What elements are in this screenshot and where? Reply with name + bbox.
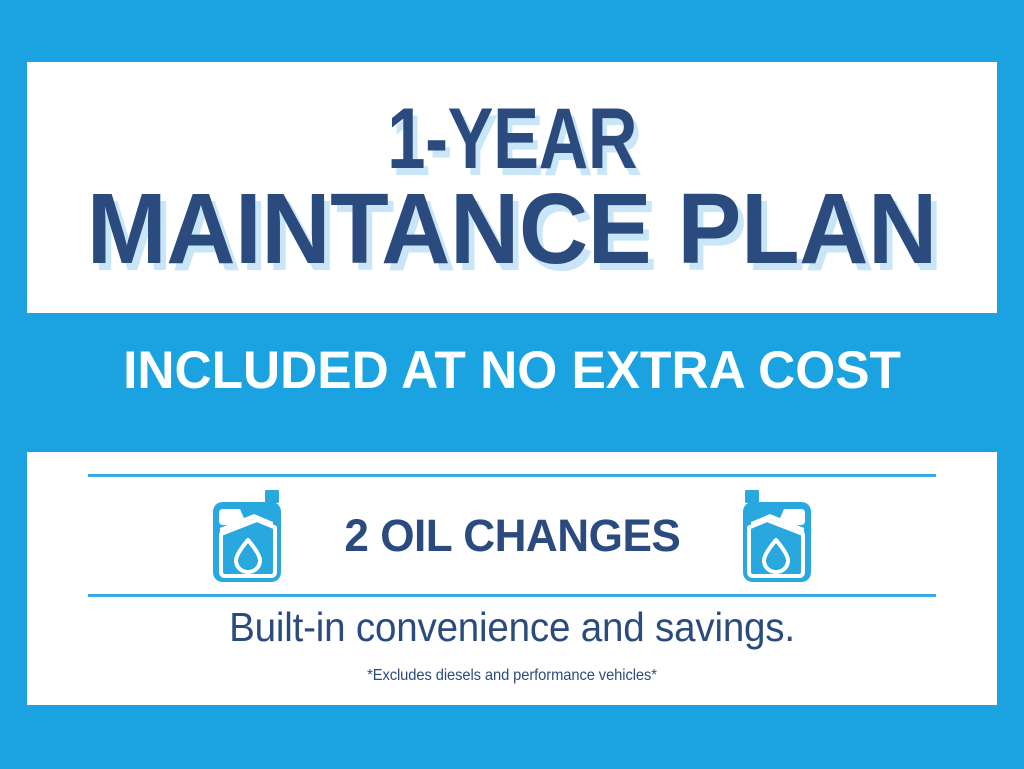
- promo-poster: 1-YEAR MAINTANCE PLAN INCLUDED AT NO EXT…: [0, 0, 1024, 769]
- oil-jug-icon-left: [209, 488, 285, 584]
- headline-line-1: 1-YEAR: [387, 99, 637, 180]
- headline-group: 1-YEAR MAINTANCE PLAN: [27, 62, 997, 313]
- headline-panel: 1-YEAR MAINTANCE PLAN: [27, 62, 997, 313]
- details-content: 2 OIL CHANGES Built-in convenience and s…: [27, 452, 997, 705]
- disclaimer: *Excludes diesels and performance vehicl…: [66, 667, 958, 685]
- oil-jug-icon-right: [739, 488, 815, 584]
- subheadline: INCLUDED AT NO EXTRA COST: [15, 340, 1008, 401]
- offer-row: 2 OIL CHANGES: [88, 477, 936, 594]
- tagline: Built-in convenience and savings.: [56, 604, 968, 651]
- divider-bottom: [88, 594, 936, 597]
- headline-line-2: MAINTANCE PLAN: [87, 182, 937, 276]
- offer-label: 2 OIL CHANGES: [344, 510, 680, 562]
- details-panel: 2 OIL CHANGES Built-in convenience and s…: [27, 452, 997, 705]
